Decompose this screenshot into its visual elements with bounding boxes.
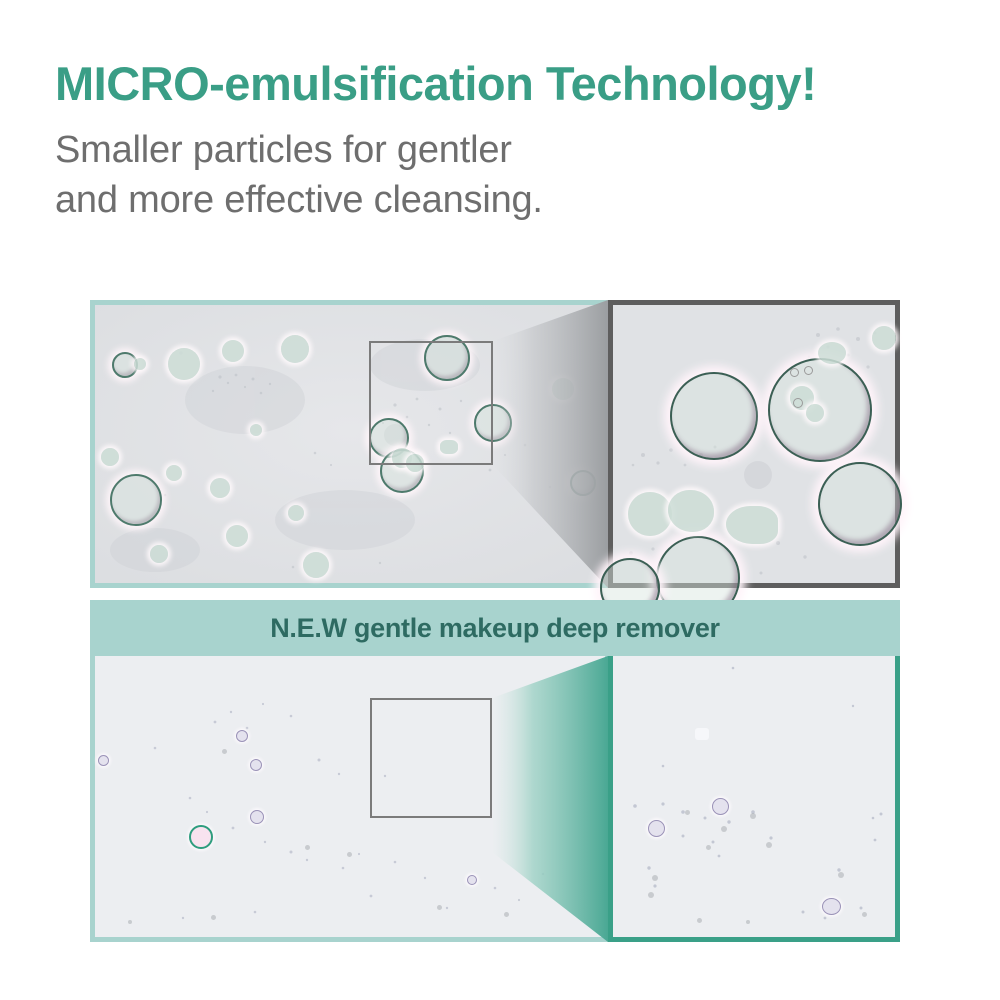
droplet [288,505,304,521]
droplet [570,470,596,496]
droplet-magnified [726,506,778,544]
micro-speck [211,915,216,920]
page-subtitle-line-2: and more effective cleansing. [55,175,965,225]
micro-droplet-magnified [648,820,665,837]
droplet [210,478,230,498]
droplet-magnified [818,342,846,364]
droplet-magnified [804,366,813,375]
micro-speck [222,749,227,754]
product-banner-label: N.E.W gentle makeup deep remover [270,613,720,644]
top-selection-rectangle [369,341,493,465]
micro-speck [838,872,844,878]
droplet [474,404,512,442]
droplet [226,525,248,547]
micro-speck [750,813,756,819]
droplet [250,424,262,436]
droplet [303,552,329,578]
bottom-zoom-micrograph-panel [608,656,900,942]
droplet [134,358,146,370]
micro-speck [347,852,352,857]
droplet [281,335,309,363]
page-title: MICRO-emulsification Technology! [55,58,965,111]
droplet [222,340,244,362]
bottom-wide-micrograph-canvas [95,656,605,937]
micro-speck [706,845,711,850]
micro-speck [652,875,658,881]
micro-speck [721,826,727,832]
micro-droplet [467,875,477,885]
page-subtitle: Smaller particles for gentler and more e… [55,125,965,225]
micro-speck [746,920,750,924]
micro-droplet [98,755,109,766]
micro-droplet [189,825,213,849]
droplet-magnified [818,462,902,546]
droplet [552,378,574,400]
micro-droplet-magnified [822,898,841,915]
micro-speck [766,842,772,848]
droplet-magnified [806,404,824,422]
micro-speck [437,905,442,910]
top-magnifier-cone [493,300,608,588]
micro-droplet [250,810,264,824]
droplet-magnified [768,358,872,462]
micro-droplet-magnified [712,798,729,815]
top-zoom-micrograph-canvas [613,305,895,583]
droplet-magnified [668,490,714,532]
droplet [380,449,424,493]
droplet [369,418,409,458]
droplet-magnified [793,398,803,408]
droplet-magnified [670,372,758,460]
droplet-magnified [790,368,799,377]
top-wide-micrograph-canvas [95,305,605,583]
bottom-selection-rectangle [370,698,492,818]
droplet [440,440,458,454]
bottom-wide-micrograph-panel [90,656,610,942]
micro-droplet [236,730,248,742]
micro-speck [648,892,654,898]
micro-speck [697,918,702,923]
bottom-magnifier-cone [492,656,608,942]
micro-speck [685,810,690,815]
droplet [101,448,119,466]
droplet [424,335,470,381]
droplet-magnified [790,386,814,410]
droplet [406,454,424,472]
page-subtitle-line-1: Smaller particles for gentler [55,125,965,175]
product-banner[interactable]: N.E.W gentle makeup deep remover [90,600,900,656]
droplet [168,348,200,380]
droplet [166,465,182,481]
droplet-magnified [872,326,896,350]
droplet [110,474,162,526]
micro-speck [305,845,310,850]
top-wide-micrograph-panel [90,300,610,588]
droplet [150,545,168,563]
micro-speck [128,920,132,924]
droplet-magnified [628,492,672,536]
micro-speck [504,912,509,917]
micro-droplet [250,759,262,771]
droplet [112,352,138,378]
top-zoom-micrograph-panel [608,300,900,588]
bottom-zoom-micrograph-canvas [613,656,895,937]
header-block: MICRO-emulsification Technology! Smaller… [55,58,965,225]
droplet [392,448,412,468]
micro-speck [862,912,867,917]
